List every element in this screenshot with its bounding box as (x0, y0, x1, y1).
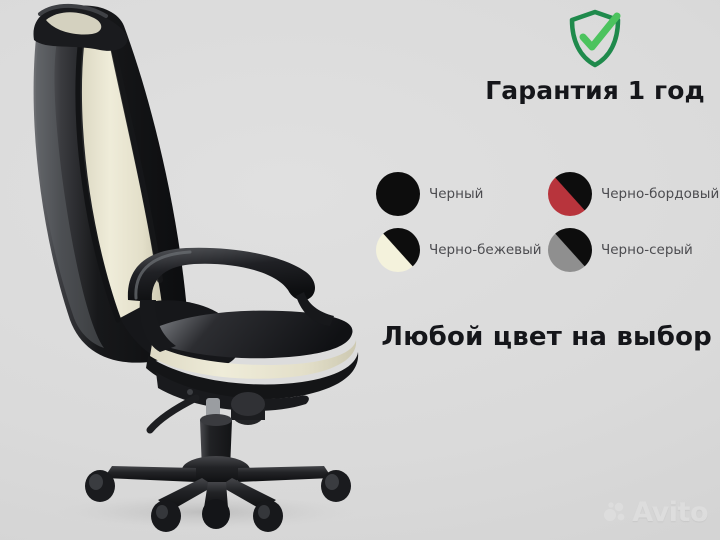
color-option-black-grey[interactable]: Черно-серый (548, 228, 720, 272)
avito-watermark: Avito (603, 497, 708, 528)
seat-rivet-left (187, 389, 193, 395)
color-option-black-beige[interactable]: Черно-бежевый (376, 228, 548, 272)
product-poster: Гарантия 1 год Черный Черно-бордовый Чер… (0, 0, 720, 540)
tilt-knob-top (231, 392, 265, 416)
headline-any-color: Любой цвет на выбор (0, 322, 712, 352)
check-mark (583, 16, 617, 47)
swatch-label-black-burgundy: Черно-бордовый (601, 186, 719, 202)
swatch-label-black: Черный (429, 186, 483, 202)
chair-backrest (33, 5, 240, 368)
shield-check-icon (470, 6, 720, 70)
swatch-dot-black-grey (548, 228, 592, 272)
height-adjust-lever (150, 398, 196, 430)
color-swatch-grid: Черный Черно-бордовый Черно-бежевый Черн… (376, 172, 720, 272)
swatch-dot-black (376, 172, 420, 216)
swatch-dot-black-burgundy (548, 172, 592, 216)
base-arm-left (104, 466, 196, 482)
swatch-dot-black-beige (376, 228, 420, 272)
swatch-label-black-beige: Черно-бежевый (429, 242, 542, 258)
caster-front-center (202, 499, 230, 529)
base-arm-right (238, 466, 332, 482)
swatch-label-black-grey: Черно-серый (601, 242, 693, 258)
office-chair-illustration (0, 0, 400, 540)
avito-dots-logo (603, 501, 627, 525)
warranty-block: Гарантия 1 год (470, 6, 720, 105)
color-option-black-burgundy[interactable]: Черно-бордовый (548, 172, 720, 216)
avito-watermark-text: Avito (632, 497, 708, 528)
color-option-black[interactable]: Черный (376, 172, 548, 216)
warranty-label: Гарантия 1 год (470, 76, 720, 105)
